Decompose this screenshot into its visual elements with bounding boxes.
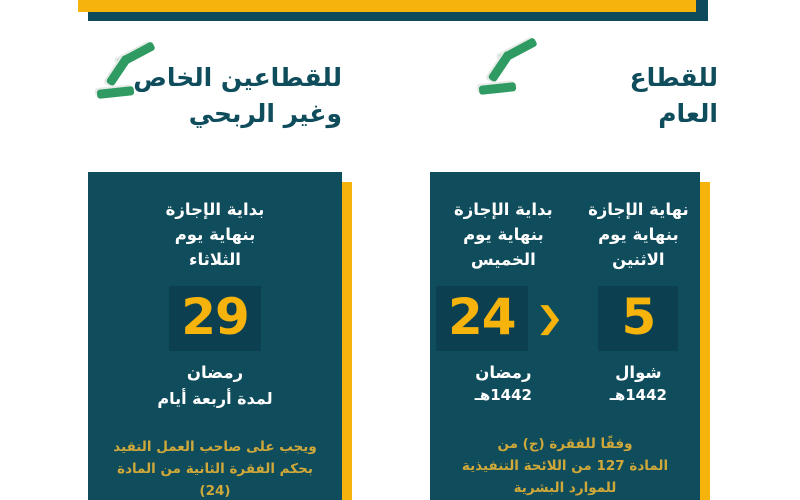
column-private-start: بداية الإجازة بنهاية يوم الثلاثاء 29 رمض…: [88, 198, 342, 410]
columns-private: بداية الإجازة بنهاية يوم الثلاثاء 29 رمض…: [88, 172, 342, 410]
month-public-end: شوال: [583, 361, 694, 385]
infographic-canvas: للقطاعين الخاص وغير الربحي للقطاع العام …: [0, 0, 800, 500]
day-number-public-end: 5: [598, 286, 678, 351]
card-private-nonprofit: بداية الإجازة بنهاية يوم الثلاثاء 29 رمض…: [88, 172, 342, 500]
card-body-public: بداية الإجازة بنهاية يوم الخميس 24 ❮ رمض…: [430, 172, 700, 500]
number-row-private: 29: [88, 286, 342, 351]
number-row-public-end: 5: [583, 286, 694, 351]
card-body-private: بداية الإجازة بنهاية يوم الثلاثاء 29 رمض…: [88, 172, 342, 500]
chevron-left-icon: ❮: [524, 304, 574, 334]
day-number-private-start: 29: [169, 286, 261, 351]
number-row-public-start: 24 ❮: [436, 286, 571, 351]
year-public-start: 1442هـ: [436, 385, 571, 407]
column-title-public-start: بداية الإجازة بنهاية يوم الخميس: [436, 198, 571, 272]
footnote-public: وفقًا للفقرة (ج) من المادة 127 من اللائح…: [430, 434, 700, 500]
column-title-public-end: نهاية الإجازة بنهاية يوم الاثنين: [583, 198, 694, 272]
card-public-sector: بداية الإجازة بنهاية يوم الخميس 24 ❮ رمض…: [430, 172, 700, 500]
month-private-start: رمضان: [88, 361, 342, 385]
month-public-start: رمضان: [436, 361, 571, 385]
year-public-end: 1442هـ: [583, 385, 694, 407]
footnote-private: ويجب على صاحب العمل التقيد بحكم الفقرة ا…: [88, 437, 342, 500]
column-public-start: بداية الإجازة بنهاية يوم الخميس 24 ❮ رمض…: [430, 198, 577, 407]
top-banner-bar: [78, 0, 696, 12]
column-title-private-start: بداية الإجازة بنهاية يوم الثلاثاء: [88, 198, 342, 272]
spark-burst-icon-public: [478, 40, 548, 102]
columns-public: بداية الإجازة بنهاية يوم الخميس 24 ❮ رمض…: [430, 172, 700, 407]
column-public-end: نهاية الإجازة بنهاية يوم الاثنين 5 شوال …: [577, 198, 700, 407]
duration-note-private: لمدة أربعة أيام: [88, 387, 342, 410]
day-number-public-start: 24: [436, 286, 528, 351]
spark-burst-icon-private: [96, 44, 166, 106]
